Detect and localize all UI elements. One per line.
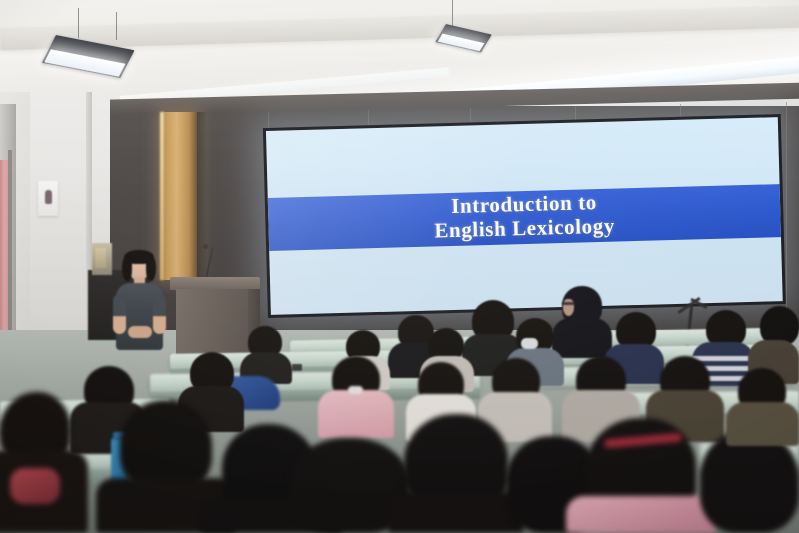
pendant-wire-left bbox=[78, 8, 79, 38]
audience-body bbox=[552, 318, 612, 358]
presenter-hair-right bbox=[146, 255, 156, 281]
presenter bbox=[110, 250, 172, 350]
decorative-panel-inner bbox=[95, 248, 106, 268]
presenter-hair-left bbox=[122, 255, 132, 281]
pendant-wire-right bbox=[452, 0, 453, 26]
window-sash bbox=[8, 150, 12, 350]
presentation-slide: Introduction to English Lexicology bbox=[266, 117, 783, 315]
slide-title-band: Introduction to English Lexicology bbox=[268, 184, 781, 250]
pendant-wire-left-2 bbox=[116, 12, 117, 40]
audience-body bbox=[726, 402, 799, 446]
wall-panel-seam bbox=[786, 102, 787, 332]
wall-plaque-emblem bbox=[45, 190, 52, 204]
hair-clip-icon bbox=[348, 386, 363, 394]
glasses-icon bbox=[562, 302, 575, 305]
red-scarf bbox=[10, 468, 60, 504]
desk-divider bbox=[292, 364, 302, 371]
pink-top-student bbox=[566, 496, 716, 533]
face-mask-icon bbox=[521, 338, 538, 349]
audience-body bbox=[388, 492, 524, 533]
pink-top-student bbox=[318, 390, 394, 438]
microphone-icon bbox=[203, 244, 208, 249]
screen-bezel: Introduction to English Lexicology bbox=[263, 114, 786, 318]
amber-wall-light-shadow bbox=[197, 112, 207, 280]
presenter-arm-right bbox=[153, 294, 166, 334]
presenter-arm-left bbox=[113, 294, 126, 334]
lecture-hall-photo: Introduction to English Lexicology bbox=[0, 0, 799, 533]
projection-screen: Introduction to English Lexicology bbox=[263, 114, 786, 318]
presenter-hands bbox=[128, 326, 152, 338]
podium bbox=[176, 289, 256, 357]
slide-title-text: Introduction to English Lexicology bbox=[433, 191, 615, 245]
